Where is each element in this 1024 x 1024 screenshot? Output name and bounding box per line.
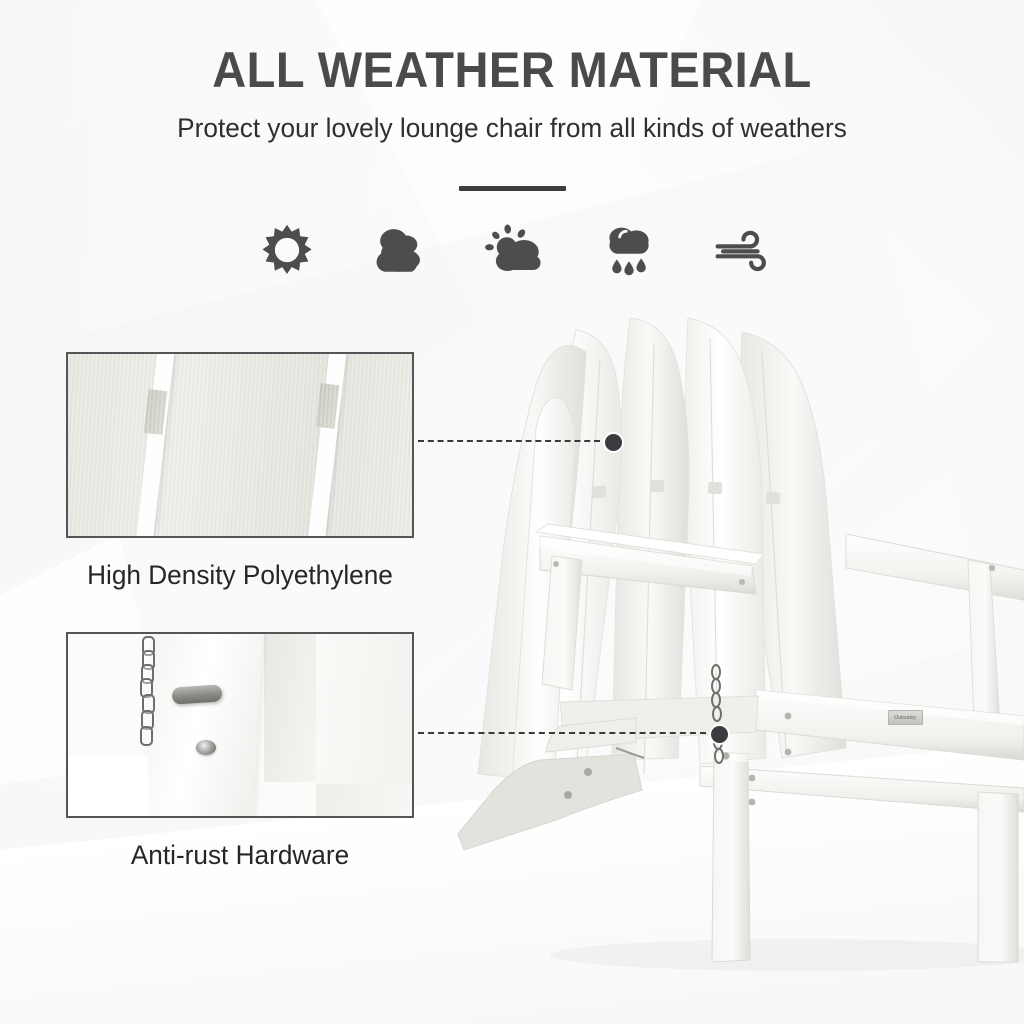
rain-icon [592,215,666,285]
header: ALL WEATHER MATERIAL Protect your lovely… [0,44,1024,144]
brand-plate-label: Outsunny [895,715,917,720]
wind-icon [706,215,780,285]
weather-icon-strip [250,212,780,288]
partly-sunny-icon [478,215,552,285]
leader-line-hdpe [418,440,600,442]
brand-plate: Outsunny [888,710,923,725]
infographic-page: Outsunny ALL WEATHER MATERIAL Protect yo… [0,0,1024,1024]
header-divider [459,186,566,191]
callout-caption-hardware: Anti-rust Hardware [71,840,409,871]
callout-image-hdpe [66,352,414,538]
callout-anti-rust-hardware: Anti-rust Hardware [66,632,414,871]
leader-line-hardware [418,732,706,734]
callout-image-hardware [66,632,414,818]
cloudy-icon [364,215,438,285]
leader-dot-hdpe [603,432,624,453]
leader-dot-hardware [709,724,730,745]
chain-pin [171,684,222,704]
sun-icon [250,215,324,285]
page-subtitle: Protect your lovely lounge chair from al… [15,113,1008,144]
chair-armrest-right [846,534,1024,602]
callout-caption-hdpe: High Density Polyethylene [71,560,409,591]
callout-high-density-polyethylene: High Density Polyethylene [66,352,414,591]
slat-photo [68,354,412,536]
screw-head [196,740,216,755]
page-title: ALL WEATHER MATERIAL [31,44,994,97]
